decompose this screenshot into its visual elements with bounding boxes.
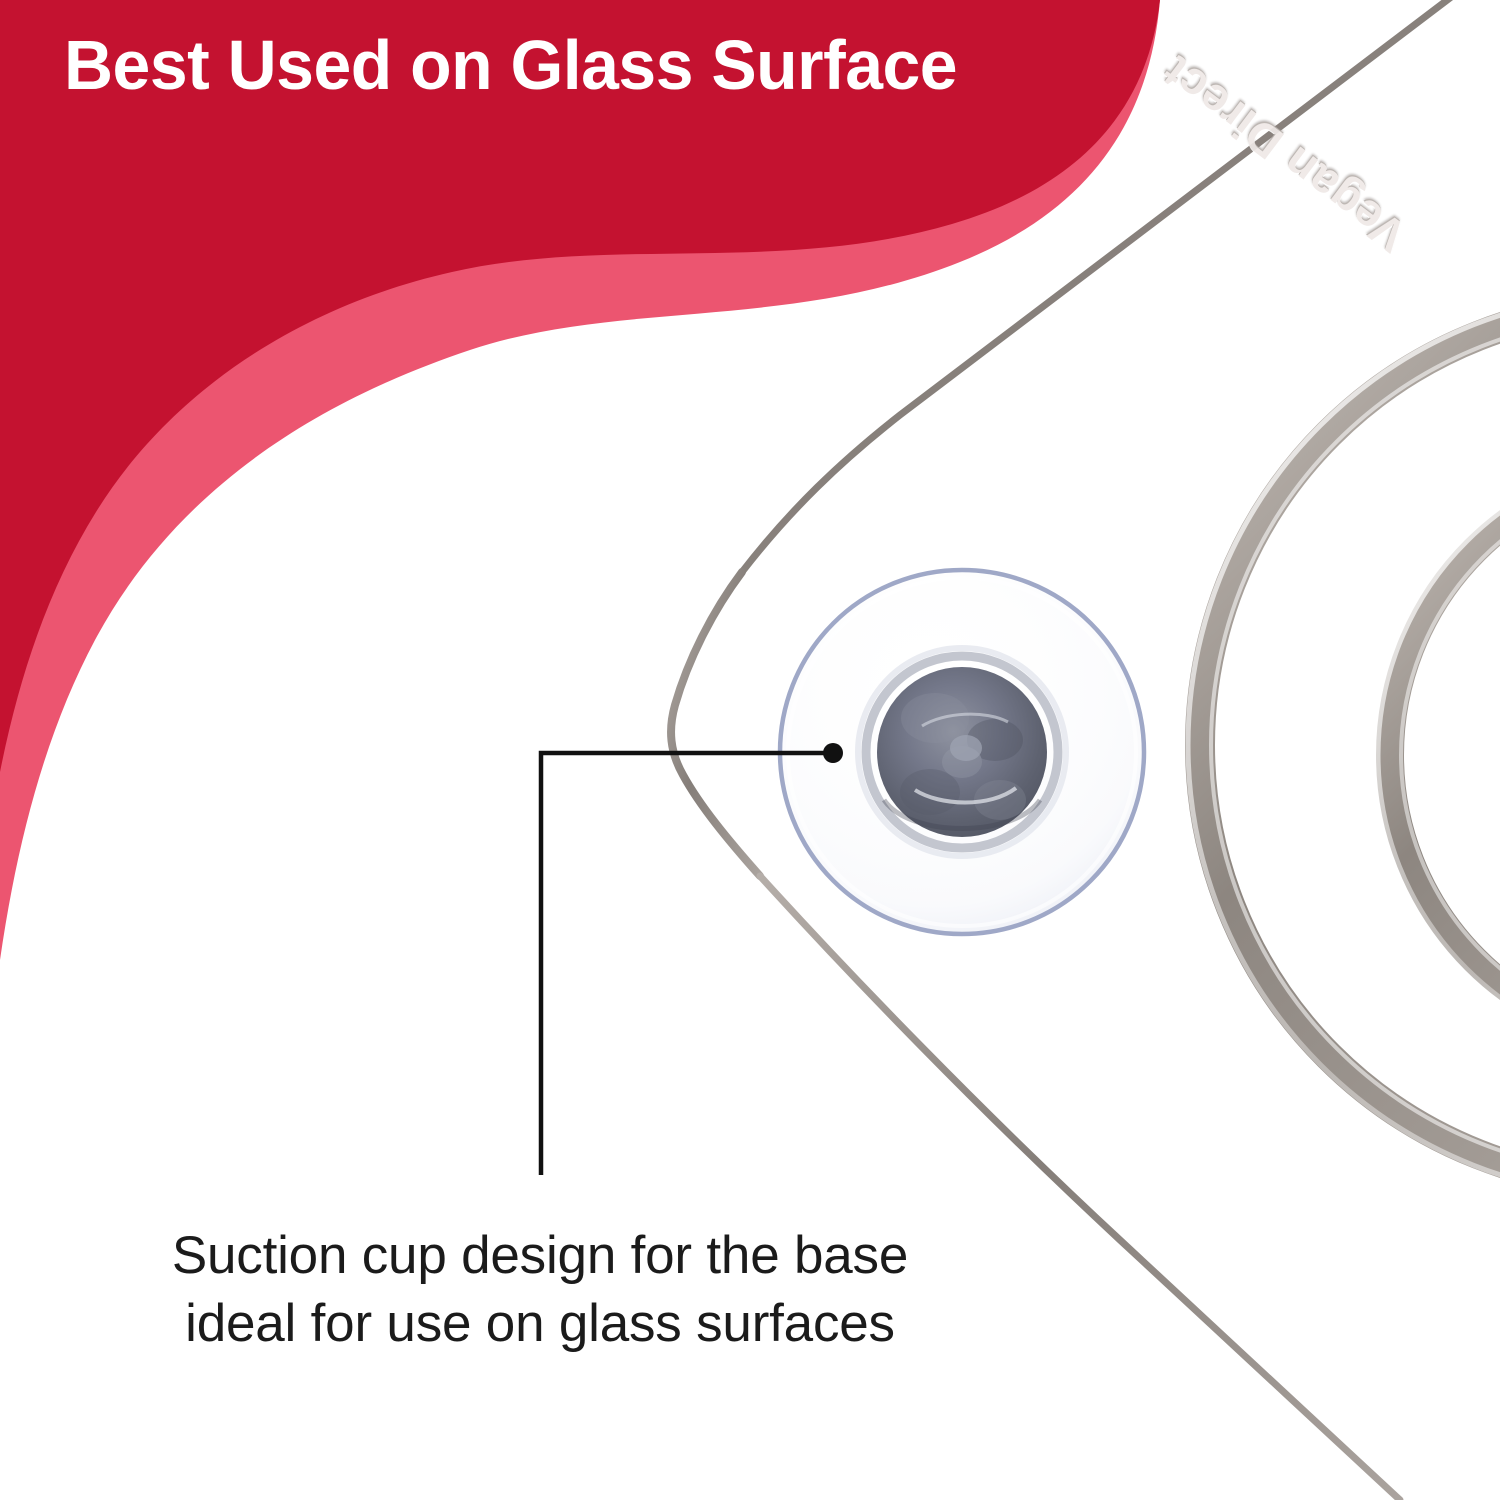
- product-feature-graphic: Vegan Direct Best Used on Glass Surface …: [0, 0, 1500, 1500]
- page-title: Best Used on Glass Surface: [64, 20, 1034, 110]
- callout-caption: Suction cup design for the base ideal fo…: [80, 1222, 1000, 1358]
- callout-line: [541, 753, 833, 1175]
- caption-line-2: ideal for use on glass surfaces: [80, 1290, 1000, 1358]
- caption-line-1: Suction cup design for the base: [80, 1222, 1000, 1290]
- callout-dot: [823, 743, 843, 763]
